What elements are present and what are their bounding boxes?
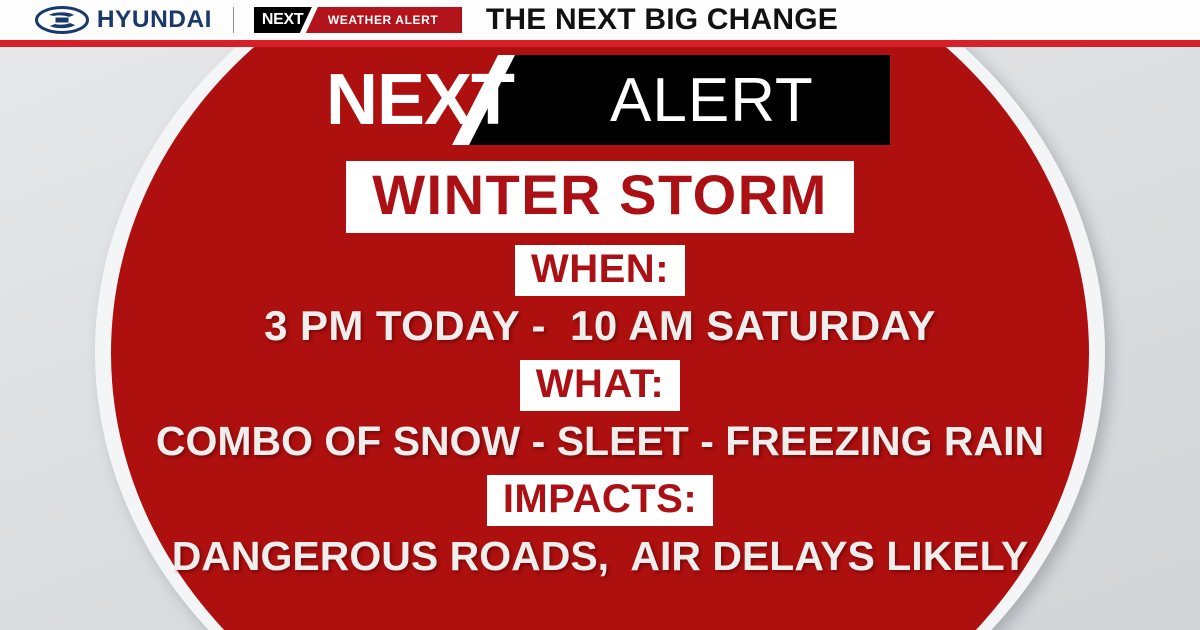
header-red-rule	[0, 40, 1200, 47]
when-label-row: WHEN:	[0, 245, 1200, 296]
when-value-text: 3 PM TODAY - 10 AM SATURDAY	[0, 302, 1200, 350]
badge-subtitle-text: WEATHER ALERT	[328, 14, 438, 27]
hyundai-sponsor-logo: HYUNDAI	[35, 0, 211, 40]
storm-title-text: WINTER STORM	[372, 166, 828, 224]
what-value-text: COMBO OF SNOW - SLEET - FREEZING RAIN	[0, 417, 1200, 465]
what-label-chip: WHAT:	[520, 360, 680, 411]
impacts-label-text: IMPACTS:	[503, 477, 697, 521]
badge-next-text: NEXT	[262, 11, 303, 29]
impacts-value-text: DANGEROUS ROADS, AIR DELAYS LIKELY	[0, 532, 1200, 580]
weather-alert-graphic: HYUNDAI NEXT WEATHER ALERT THE NEXT BIG …	[0, 0, 1200, 630]
program-headline: THE NEXT BIG CHANGE	[486, 5, 838, 35]
header-divider	[233, 7, 234, 33]
hyundai-emblem-icon	[35, 6, 89, 34]
hyundai-wordmark: HYUNDAI	[97, 8, 212, 32]
when-label-chip: WHEN:	[515, 245, 685, 296]
next-alert-lockup: NEXT ALERT	[310, 55, 890, 145]
alert-content: NEXT ALERT WINTER STORM WHEN: 3 PM TODAY…	[0, 47, 1200, 630]
sponsor-header-bar: HYUNDAI NEXT WEATHER ALERT THE NEXT BIG …	[0, 0, 1200, 40]
impacts-label-chip: IMPACTS:	[487, 475, 713, 526]
impacts-label-row: IMPACTS:	[0, 475, 1200, 526]
what-label-row: WHAT:	[0, 360, 1200, 411]
next-weather-alert-badge: NEXT WEATHER ALERT	[254, 7, 462, 33]
storm-title-banner: WINTER STORM	[346, 161, 854, 233]
lockup-next-text: NEXT	[326, 62, 514, 138]
when-label-text: WHEN:	[531, 247, 669, 291]
what-label-text: WHAT:	[536, 362, 664, 406]
lockup-alert-text: ALERT	[610, 68, 814, 134]
